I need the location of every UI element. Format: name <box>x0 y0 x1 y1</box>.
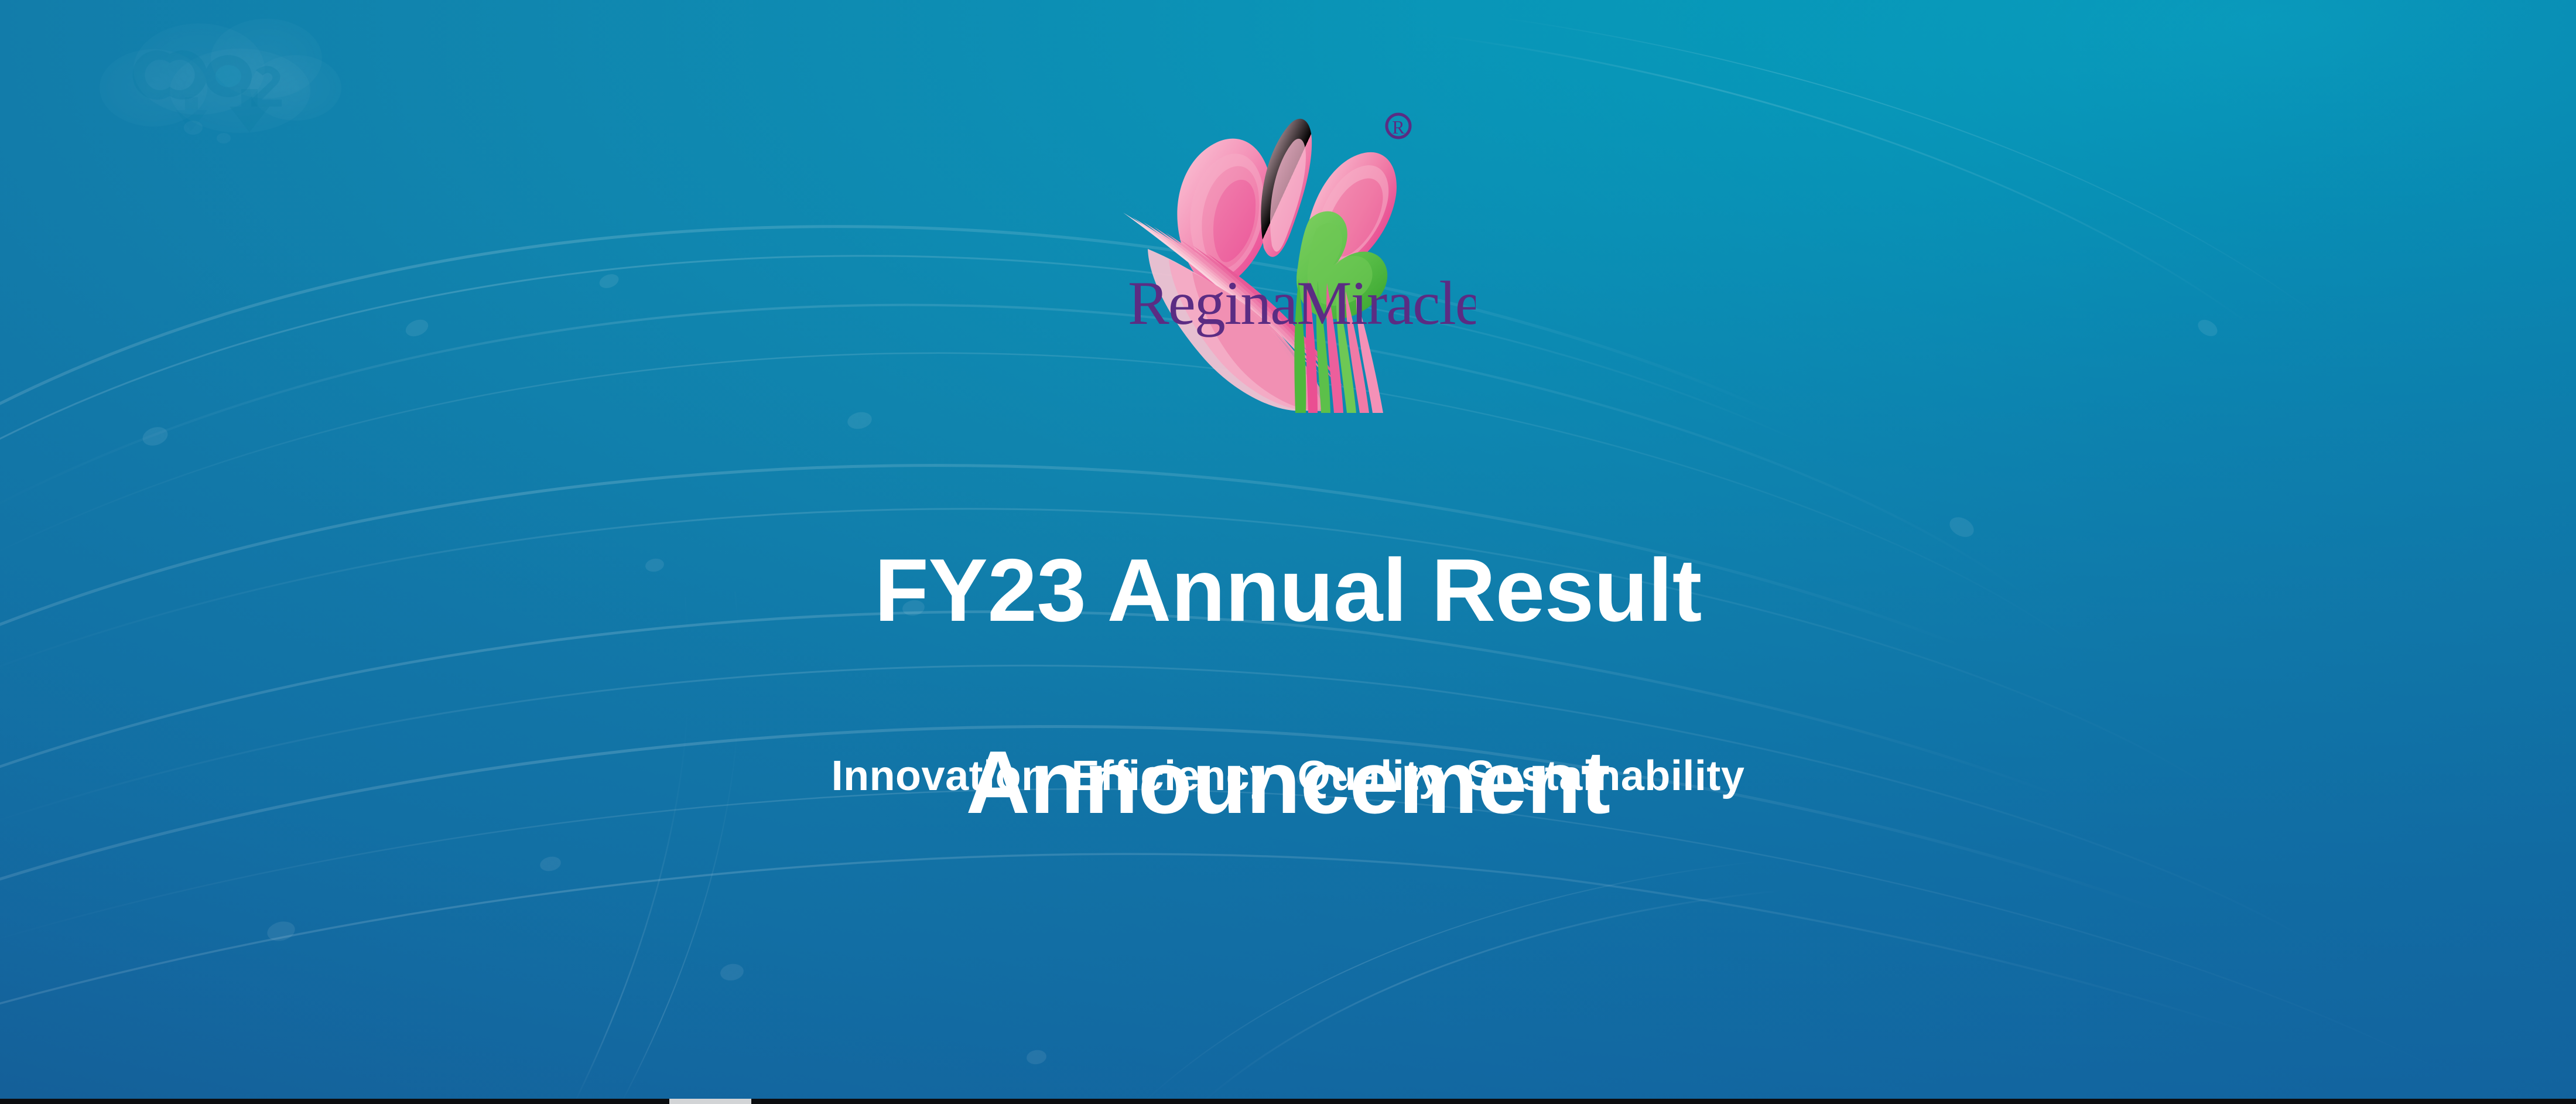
scrollbar-track[interactable] <box>0 1099 2576 1104</box>
logo-wordmark: ReginaMiracle <box>1128 269 1476 337</box>
tagline: Innovation Efficiency Quality Sustainabi… <box>0 752 2576 800</box>
page-title-line-1: FY23 Annual Result <box>0 542 2576 638</box>
registered-trademark-icon: R <box>1387 114 1410 138</box>
page-title: FY23 Annual Result Announcement <box>0 446 2576 927</box>
regina-miracle-logo: R <box>1113 102 1476 413</box>
flower-petals <box>1123 119 1397 413</box>
slide-content: R <box>0 0 2576 1104</box>
scrollbar-thumb[interactable] <box>669 1099 751 1104</box>
slide-stage: R <box>0 0 2576 1104</box>
svg-text:R: R <box>1392 117 1405 138</box>
